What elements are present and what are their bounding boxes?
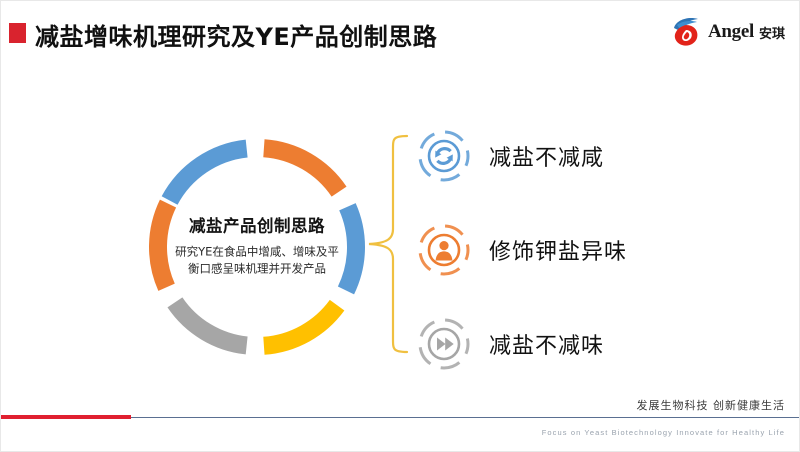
list-item[interactable]: 减盐不减咸	[417, 125, 757, 187]
angel-logo: Angel 安琪	[668, 15, 785, 49]
title-marker	[9, 23, 26, 43]
segment-blue-right	[346, 207, 356, 291]
list-item[interactable]: 修饰钾盐异味	[417, 219, 757, 281]
segment-orange-left	[158, 204, 168, 288]
segment-orange-top-right	[264, 148, 339, 191]
feature-list: 减盐不减咸 修饰钾盐异味 减	[417, 125, 757, 407]
refresh-icon	[417, 129, 471, 183]
slide-footer: 发展生物科技 创新健康生活 Focus on Yeast Biotechnolo…	[1, 399, 799, 451]
donut-diagram: 减盐产品创制思路 研究YE在食品中增咸、增味及平衡口感呈味机理并开发产品	[143, 133, 371, 361]
slide-canvas: 减盐增味机理研究及YE产品创制思路 Angel 安琪 减盐产品创制思路 研究YE…	[0, 0, 800, 452]
footer-slogan-en: Focus on Yeast Biotechnology Innovate fo…	[542, 428, 785, 437]
fast-forward-icon	[417, 317, 471, 371]
footer-rule-red	[1, 415, 131, 419]
donut-center-subtitle: 研究YE在食品中增咸、增味及平衡口感呈味机理并开发产品	[170, 243, 345, 278]
segment-blue-top-left	[170, 149, 247, 201]
list-item[interactable]: 减盐不减味	[417, 313, 757, 375]
list-item-label: 减盐不减咸	[489, 140, 604, 172]
list-item-label: 修饰钾盐异味	[489, 234, 627, 266]
slide-header: 减盐增味机理研究及YE产品创制思路 Angel 安琪	[1, 1, 799, 63]
segment-yellow-bottom-right	[264, 305, 337, 346]
logo-brand-en: Angel	[708, 21, 754, 43]
person-icon	[417, 223, 471, 277]
donut-center-title: 减盐产品创制思路	[170, 216, 345, 236]
segment-gray-bottom-left	[175, 302, 247, 345]
list-item-label: 减盐不减味	[489, 328, 604, 360]
logo-brand-cn: 安琪	[759, 23, 785, 42]
angel-logo-mark-icon	[668, 16, 704, 48]
curly-brace	[363, 133, 413, 355]
donut-center-label: 减盐产品创制思路 研究YE在食品中增咸、增味及平衡口感呈味机理并开发产品	[170, 216, 345, 277]
page-title: 减盐增味机理研究及YE产品创制思路	[35, 17, 437, 52]
footer-slogan-cn: 发展生物科技 创新健康生活	[637, 397, 786, 413]
footer-rule-blue	[131, 417, 799, 419]
